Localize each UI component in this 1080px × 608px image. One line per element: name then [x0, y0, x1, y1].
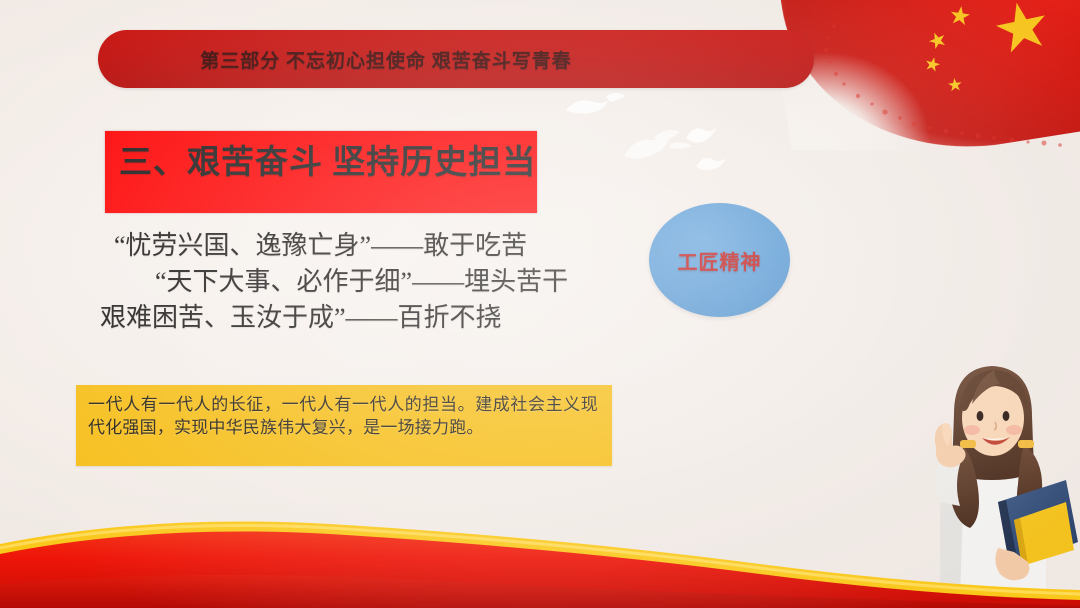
quote-line: “天下大事、必作于细”——埋头苦干 [155, 264, 640, 300]
craftsman-spirit-badge: 工匠精神 [649, 203, 790, 317]
body-quote-block: “忧劳兴国、逸豫亡身”——敢于吃苦 “天下大事、必作于细”——埋头苦干 艰难困苦… [100, 228, 640, 336]
quote-line: 艰难困苦、玉汝于成”——百折不挠 [100, 300, 640, 336]
section-title-text: 三、艰苦奋斗 坚持历史担当 [119, 135, 536, 183]
quote-line: “忧劳兴国、逸豫亡身”——敢于吃苦 [114, 228, 640, 264]
section-title-block: 三、艰苦奋斗 坚持历史担当 [105, 131, 537, 213]
callout-box: 一代人有一代人的长征，一代人有一代人的担当。建成社会主义现代化强国，实现中华民族… [76, 385, 612, 466]
callout-box-text: 一代人有一代人的长征，一代人有一代人的担当。建成社会主义现代化强国，实现中华民族… [88, 393, 598, 439]
presentation-slide: 第三部分 不忘初心担使命 艰苦奋斗写青春 三、艰苦奋斗 坚持历史担当 “忧劳兴国… [0, 0, 1080, 608]
craftsman-spirit-badge-label: 工匠精神 [678, 246, 762, 275]
header-banner: 第三部分 不忘初心担使命 艰苦奋斗写青春 [98, 30, 814, 88]
header-banner-title: 第三部分 不忘初心担使命 艰苦奋斗写青春 [200, 46, 572, 73]
